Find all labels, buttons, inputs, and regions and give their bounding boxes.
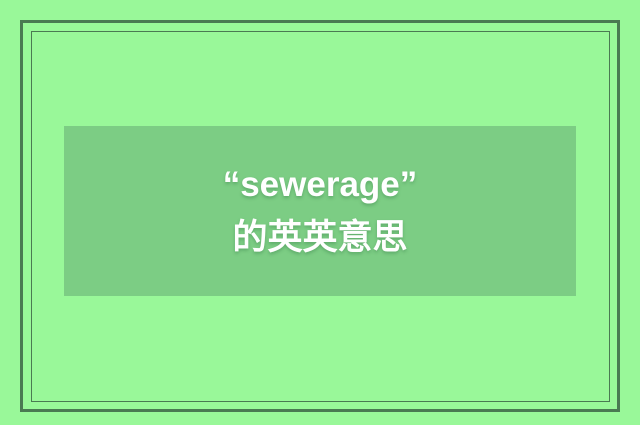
page-canvas: “sewerage” 的英英意思 (0, 0, 640, 425)
banner-headline: “sewerage” 的英英意思 (202, 158, 438, 264)
banner-panel: “sewerage” 的英英意思 (64, 126, 576, 296)
